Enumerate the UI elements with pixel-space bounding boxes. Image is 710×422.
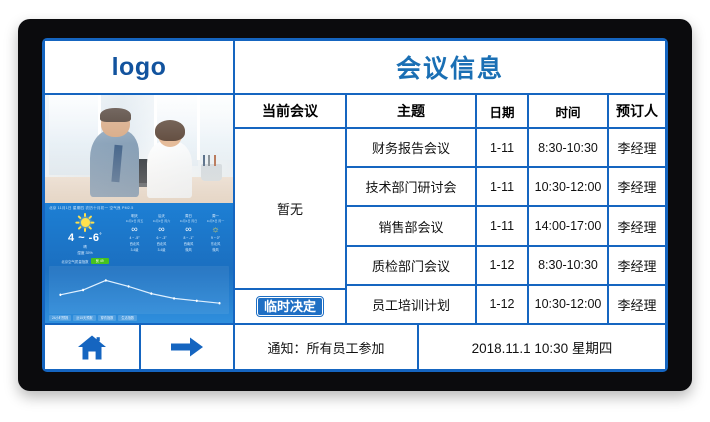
weather-today: 4 ~ -6° 晴 湿度 35% 北京空气质量指数 良 49	[49, 213, 121, 264]
cell-date: 1-12	[477, 247, 529, 284]
forecast-day-label: 后天	[158, 213, 165, 218]
meeting-info-panel: logo 会议信息	[45, 41, 665, 369]
weather-tab[interactable]: 24小时预报	[49, 315, 71, 321]
panel-header: logo 会议信息	[45, 41, 665, 95]
weather-tab[interactable]: 近15天预报	[73, 315, 95, 321]
cell-date: 1-12	[477, 286, 529, 323]
forecast-day-wind-level: 3-4级	[131, 247, 139, 252]
title-cell: 会议信息	[235, 41, 665, 95]
monitor-bezel: logo 会议信息	[18, 19, 692, 391]
cell-date: 1-11	[477, 168, 529, 205]
forecast-day-date: 11月2日 周五	[126, 219, 144, 223]
home-icon	[77, 334, 107, 361]
screen: logo 会议信息	[42, 38, 668, 372]
left-column: 北京 11月1日 星期四 农历十月初一 空气良 PM2.5	[45, 95, 235, 323]
forecast-day-label: 明天	[131, 213, 138, 218]
chart-svg	[49, 266, 229, 314]
cell-subject: 员工培训计划	[347, 286, 477, 323]
home-button[interactable]	[45, 325, 141, 369]
cell-time: 8:30-10:30	[529, 247, 609, 284]
sun-icon	[77, 214, 94, 231]
temp-decision-cell: 临时决定	[235, 290, 345, 323]
forecast-day-wind: 西北风	[130, 241, 140, 246]
current-meeting-value: 暂无	[235, 129, 345, 290]
meeting-rows: 财务报告会议 1-11 8:30-10:30 李经理 技术部门研讨会 1-11 …	[347, 129, 665, 323]
cell-subject: 技术部门研讨会	[347, 168, 477, 205]
cell-time: 14:00-17:00	[529, 207, 609, 244]
forecast-day[interactable]: 后天 11月3日 周六 ∞ 6 ~ -3° 西北风 3-4级	[148, 213, 175, 264]
weather-temp-unit: °	[99, 232, 102, 238]
forecast-day-label: 周日	[185, 213, 192, 218]
table-row[interactable]: 质检部门会议 1-12 8:30-10:30 李经理	[347, 247, 665, 286]
page-title: 会议信息	[396, 49, 504, 85]
weather-widget[interactable]: 北京 11月1日 星期四 农历十月初一 空气良 PM2.5	[45, 203, 233, 323]
weather-main: 4 ~ -6° 晴 湿度 35% 北京空气质量指数 良 49	[49, 213, 229, 264]
forecast-day-temp: 4 ~ -5°	[129, 236, 139, 240]
datetime-text: 2018.11.1 10:30 星期四	[419, 325, 665, 369]
cell-owner: 李经理	[609, 129, 665, 166]
temp-decision-button[interactable]: 临时决定	[257, 297, 323, 316]
arrow-right-icon	[170, 336, 204, 358]
cell-date: 1-11	[477, 129, 529, 166]
logo-cell[interactable]: logo	[45, 41, 235, 95]
current-meeting-column: 暂无 临时决定	[235, 129, 347, 323]
weather-humidity: 湿度 35%	[77, 251, 92, 256]
forecast-day-temp: 9 ~ 0°	[211, 236, 220, 240]
cloudy-icon: ∞	[131, 224, 137, 234]
photo-overlay	[45, 95, 233, 203]
forecast-day-wind-level: 微风	[212, 247, 218, 252]
weather-aqi: 北京空气质量指数 良 49	[61, 258, 108, 264]
table-row[interactable]: 财务报告会议 1-11 8:30-10:30 李经理	[347, 129, 665, 168]
cell-time: 8:30-10:30	[529, 129, 609, 166]
column-header-date: 日期	[477, 95, 529, 127]
next-button[interactable]	[141, 325, 235, 369]
sun-cloud-icon: ☼	[211, 224, 219, 234]
forecast-day-temp: 8 ~ -1°	[183, 236, 193, 240]
weather-aqi-badge: 良 49	[91, 258, 109, 264]
cell-subject: 质检部门会议	[347, 247, 477, 284]
forecast-day-date: 11月3日 周六	[153, 219, 171, 223]
forecast-day-wind-level: 3-4级	[158, 247, 166, 252]
forecast-day-wind: 西北风	[157, 241, 167, 246]
cell-subject: 财务报告会议	[347, 129, 477, 166]
forecast-day-date: 11月5日 周一	[207, 219, 225, 223]
table-row[interactable]: 技术部门研讨会 1-11 10:30-12:00 李经理	[347, 168, 665, 207]
meeting-table: 当前会议 主题 日期 时间 预订人 暂无 临时决定	[235, 95, 665, 323]
forecast-day[interactable]: 周日 11月4日 周日 ∞ 8 ~ -1° 西南风 微风	[175, 213, 202, 264]
weather-forecast-list: 明天 11月2日 周五 ∞ 4 ~ -5° 西北风 3-4级 后天 11月3日	[121, 213, 229, 264]
cell-time: 10:30-12:00	[529, 168, 609, 205]
weather-tab[interactable]: 生活指数	[118, 315, 137, 321]
cell-owner: 李经理	[609, 207, 665, 244]
forecast-day[interactable]: 周一 11月5日 周一 ☼ 9 ~ 0° 东北风 微风	[202, 213, 229, 264]
cloudy-icon: ∞	[158, 224, 164, 234]
forecast-day-temp: 6 ~ -3°	[156, 236, 166, 240]
column-header-subject: 主题	[347, 95, 477, 127]
panel-footer: 通知：所有员工参加 2018.11.1 10:30 星期四	[45, 323, 665, 369]
cell-owner: 李经理	[609, 247, 665, 284]
logo-text: logo	[112, 53, 167, 82]
weather-tab[interactable]: 穿衣指数	[98, 315, 117, 321]
column-header-current: 当前会议	[235, 95, 347, 127]
table-body: 暂无 临时决定 财务报告会议 1-11 8:30-10:30 李经理	[235, 129, 665, 323]
panel-body: 北京 11月1日 星期四 农历十月初一 空气良 PM2.5	[45, 95, 665, 323]
forecast-day-label: 周一	[212, 213, 219, 218]
weather-headline: 北京 11月1日 星期四 农历十月初一 空气良 PM2.5	[49, 206, 229, 211]
column-header-time: 时间	[529, 95, 609, 127]
forecast-day[interactable]: 明天 11月2日 周五 ∞ 4 ~ -5° 西北风 3-4级	[121, 213, 148, 264]
cell-time: 10:30-12:00	[529, 286, 609, 323]
cloudy-icon: ∞	[185, 224, 191, 234]
cell-owner: 李经理	[609, 168, 665, 205]
forecast-day-wind: 西南风	[184, 241, 194, 246]
table-row[interactable]: 销售部会议 1-11 14:00-17:00 李经理	[347, 207, 665, 246]
weather-tabs[interactable]: 24小时预报 近15天预报 穿衣指数 生活指数	[49, 315, 229, 321]
office-photo	[45, 95, 233, 203]
forecast-day-wind: 东北风	[211, 241, 221, 246]
notice-text: 通知：所有员工参加	[235, 325, 419, 369]
weather-condition: 晴	[83, 245, 87, 250]
column-header-owner: 预订人	[609, 95, 665, 127]
weather-temperature: 4 ~ -6°	[68, 232, 102, 244]
table-row[interactable]: 员工培训计划 1-12 10:30-12:00 李经理	[347, 286, 665, 323]
forecast-day-wind-level: 微风	[185, 247, 191, 252]
weather-hourly-chart	[49, 266, 229, 314]
weather-aqi-label: 北京空气质量指数	[61, 259, 88, 264]
table-header-row: 当前会议 主题 日期 时间 预订人	[235, 95, 665, 129]
forecast-day-date: 11月4日 周日	[180, 219, 198, 223]
cell-owner: 李经理	[609, 286, 665, 323]
cell-date: 1-11	[477, 207, 529, 244]
cell-subject: 销售部会议	[347, 207, 477, 244]
weather-temp-value: 4 ~ -6	[68, 232, 99, 244]
